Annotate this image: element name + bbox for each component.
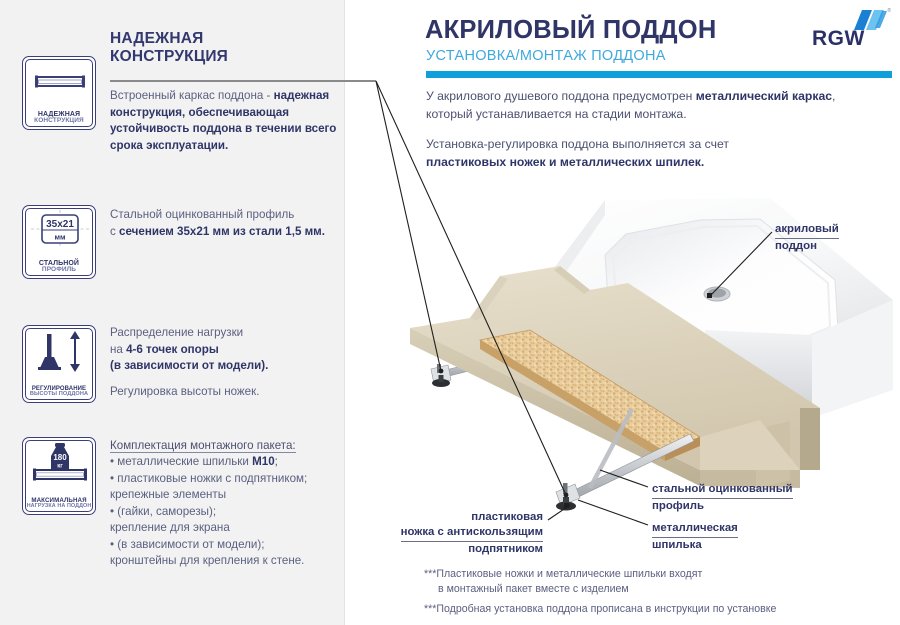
kit-item: • металлические шпильки M10; bbox=[110, 455, 278, 468]
chipboard-strip bbox=[480, 330, 700, 461]
intro-paragraph-1: У акрилового душевого поддона предусмотр… bbox=[426, 88, 881, 123]
badge-steel-profile: 35x21 мм СТАЛЬНОЙ ПРОФИЛЬ bbox=[22, 205, 96, 279]
sidebar-heading-line2: КОНСТРУКЦИЯ bbox=[110, 48, 228, 65]
page-title: АКРИЛОВЫЙ ПОДДОН bbox=[425, 16, 716, 45]
badge-caption: СТАЛЬНОЙ ПРОФИЛЬ bbox=[39, 260, 79, 274]
intro-p2-bold: пластиковых ножек и металлических шпилек… bbox=[426, 155, 704, 169]
svg-text:кг: кг bbox=[57, 464, 63, 470]
badge-reliable-construction: НАДЕЖНАЯ КОНСТРУКЦИЯ bbox=[22, 56, 96, 130]
label-plastic-foot: пластиковая ножка с антискользящим подпя… bbox=[300, 510, 543, 556]
label-acrylic-tray-line1: акриловый bbox=[775, 222, 839, 239]
footnote-1: ***Пластиковые ножки и металлические шпи… bbox=[424, 567, 884, 598]
height-adjust-icon bbox=[23, 326, 95, 386]
feature-2-text: Стальной оцинкованный профиль с сечением… bbox=[110, 207, 338, 240]
footnote-2: ***Подробная установка поддона прописана… bbox=[424, 602, 884, 617]
svg-text:35x21: 35x21 bbox=[46, 219, 74, 230]
kit-item: кронштейны для крепления к стене. bbox=[110, 554, 304, 567]
page-subtitle: УСТАНОВКА/МОНТАЖ ПОДДОНА bbox=[426, 48, 666, 64]
intro-p1-bold: металлический каркас bbox=[696, 89, 832, 103]
kit-item: крепление для экрана bbox=[110, 521, 230, 534]
badge-max-load: 180 кг МАКСИМАЛЬНАЯ НАГРУЗКА НА ПОДДОН bbox=[22, 437, 96, 515]
kit-title: Комплектация монтажного пакета: bbox=[110, 439, 296, 453]
badge-caption-line2: ПРОФИЛЬ bbox=[39, 267, 79, 274]
heading-rule bbox=[110, 80, 376, 82]
badge-caption: МАКСИМАЛЬНАЯ НАГРУЗКА НА ПОДДОН bbox=[27, 498, 92, 510]
badge-caption: НАДЕЖНАЯ КОНСТРУКЦИЯ bbox=[34, 111, 84, 125]
logo-trademark: ® bbox=[887, 8, 891, 14]
label-steel-profile-line1: стальной оцинкованный bbox=[652, 482, 793, 499]
feature-2-text-bold: сечением 35х21 мм из стали 1,5 мм. bbox=[119, 225, 325, 238]
feature-3-text: Распределение нагрузки на 4-6 точек опор… bbox=[110, 325, 338, 401]
label-plastic-foot-line1: пластиковая bbox=[471, 511, 543, 523]
intro-p1-a: У акрилового душевого поддона предусмотр… bbox=[426, 89, 696, 103]
feature-1-text-plain: Встроенный каркас поддона - bbox=[110, 89, 274, 102]
frame-profile-icon bbox=[23, 57, 95, 111]
steel-profile-icon: 35x21 мм bbox=[23, 206, 95, 260]
logo-wordmark: RGW bbox=[812, 27, 865, 51]
beige-front-lip bbox=[700, 420, 800, 470]
feature-2-text-lead: с bbox=[110, 225, 119, 238]
steel-frame-rail-left bbox=[431, 352, 524, 387]
intro-paragraph-2: Установка-регулировка поддона выполняетс… bbox=[426, 136, 881, 171]
footnote-1-line1: ***Пластиковые ножки и металлические шпи… bbox=[424, 568, 702, 580]
kit-item: • (в зависимости от модели); bbox=[110, 538, 264, 551]
intro-p2-a: Установка-регулировка поддона выполняетс… bbox=[426, 137, 729, 151]
kit-item: • пластиковые ножки с подпятником; bbox=[110, 472, 307, 485]
label-steel-profile: стальной оцинкованный профиль bbox=[652, 482, 793, 514]
feature-3-line4: Регулировка высоты ножек. bbox=[110, 385, 259, 398]
badge-caption: РЕГУЛИРОВАНИЕ ВЫСОТЫ ПОДДОНА bbox=[30, 386, 88, 398]
label-metal-stud-line2: шпилька bbox=[652, 539, 702, 551]
feature-2-text-plain: Стальной оцинкованный профиль bbox=[110, 208, 294, 221]
footnote-1-line2: в монтажный пакет вместе с изделием bbox=[424, 582, 629, 597]
feature-3-lead: на bbox=[110, 343, 126, 356]
badge-caption-line2: ВЫСОТЫ ПОДДОНА bbox=[30, 392, 88, 398]
footnote-2-text: ***Подробная установка поддона прописана… bbox=[424, 603, 776, 615]
feature-3-line1: Распределение нагрузки bbox=[110, 326, 243, 339]
label-metal-stud: металлическая шпилька bbox=[652, 521, 738, 553]
sidebar-heading-line1: НАДЕЖНАЯ bbox=[110, 30, 203, 47]
label-steel-profile-line2: профиль bbox=[652, 500, 704, 512]
badge-caption-line2: НАГРУЗКА НА ПОДДОН bbox=[27, 504, 92, 510]
leader-dots bbox=[439, 293, 712, 508]
kit-item: крепежные элементы bbox=[110, 488, 226, 501]
feature-3-bold2: (в зависимости от модели). bbox=[110, 359, 268, 372]
label-acrylic-tray: акриловый поддон bbox=[775, 222, 839, 254]
svg-text:мм: мм bbox=[54, 233, 66, 242]
beige-base-slab bbox=[410, 266, 820, 489]
accent-bar bbox=[426, 71, 892, 78]
label-plastic-foot-line2: ножка с антискользящим bbox=[401, 525, 543, 542]
svg-text:180: 180 bbox=[53, 453, 67, 462]
feature-3-bold1: 4-6 точек опоры bbox=[126, 343, 219, 356]
max-load-icon: 180 кг bbox=[23, 438, 95, 498]
kit-item: • (гайки, саморезы); bbox=[110, 505, 216, 518]
sidebar-heading: НАДЕЖНАЯ КОНСТРУКЦИЯ bbox=[110, 30, 228, 67]
feature-1-text: Встроенный каркас поддона - надежная кон… bbox=[110, 88, 338, 155]
badge-caption-line2: КОНСТРУКЦИЯ bbox=[34, 118, 84, 125]
label-metal-stud-line1: металлическая bbox=[652, 521, 738, 538]
rgw-logo: RGW ® bbox=[812, 8, 890, 52]
label-acrylic-tray-line2: поддон bbox=[775, 240, 817, 252]
badge-height-adjustment: РЕГУЛИРОВАНИЕ ВЫСОТЫ ПОДДОНА bbox=[22, 325, 96, 403]
infographic-page: НАДЕЖНАЯ КОНСТРУКЦИЯ НАДЕЖНАЯ КОНСТРУКЦИ… bbox=[0, 0, 900, 625]
label-plastic-foot-line3: подпятником bbox=[468, 543, 543, 555]
